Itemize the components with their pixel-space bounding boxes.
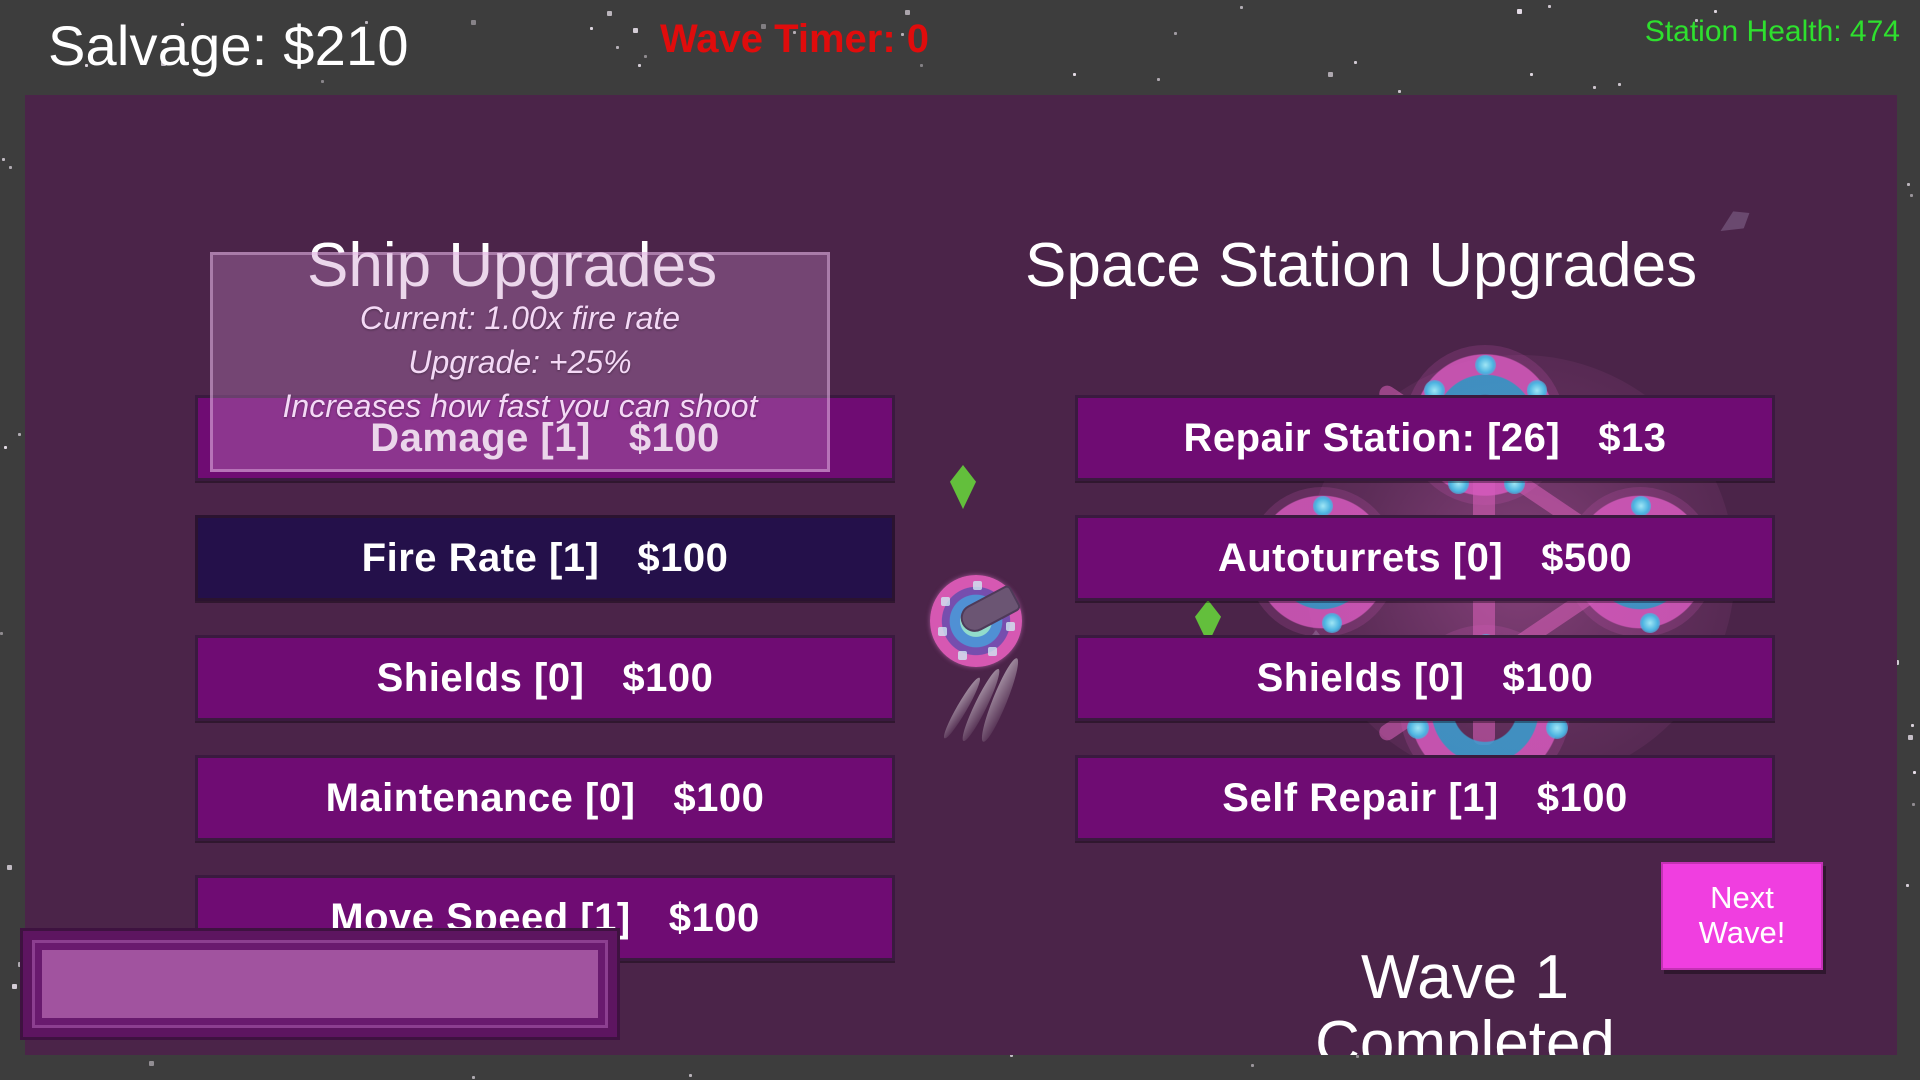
star [1356,1055,1359,1058]
station-health-readout: Station Health: 474 [1645,15,1900,49]
station-upgrade-button-1[interactable]: Autoturrets [0]$500 [1075,515,1775,601]
upgrade-panel: Ship Upgrades Space Station Upgrades Dam… [25,95,1897,1055]
star [149,1061,154,1066]
ship-upgrades-title: Ship Upgrades [307,230,717,301]
ship-upgrade-button-0-price: $100 [629,416,720,461]
ship-upgrade-button-0-label: Damage [1] [370,416,591,461]
next-wave-button[interactable]: Next Wave! [1661,862,1823,970]
station-upgrade-button-2-price: $100 [1502,656,1593,701]
station-upgrade-button-1-label: Autoturrets [0] [1218,536,1503,581]
salvage-readout: Salvage: $210 [48,13,409,78]
status-bar-fill [42,950,598,1018]
game-screen: Ship Upgrades Space Station Upgrades Dam… [0,0,1920,1080]
star [0,632,3,635]
ship-upgrade-button-1-label: Fire Rate [1] [362,536,600,581]
ship-upgrade-button-3-price: $100 [673,776,764,821]
star [1912,803,1915,806]
star [1911,724,1914,727]
star [1906,884,1909,887]
ship-upgrade-button-0[interactable]: Damage [1]$100 [195,395,895,481]
ship-upgrade-list: Damage [1]$100Fire Rate [1]$100Shields [… [195,395,895,995]
ship-upgrade-button-3-label: Maintenance [0] [326,776,636,821]
star [9,166,12,169]
star [2,158,5,161]
wave-status: Wave 1 Completed [1265,945,1665,1055]
status-bar-frame [20,928,620,1040]
station-upgrade-button-0-price: $13 [1598,416,1666,461]
star [1908,735,1913,740]
station-upgrades-title: Space Station Upgrades [1025,230,1697,301]
star [1910,194,1913,197]
star [7,865,12,870]
station-upgrade-button-3-label: Self Repair [1] [1222,776,1498,821]
enemy-sprite [950,465,976,509]
station-upgrade-button-1-price: $500 [1541,536,1632,581]
star [1251,1064,1254,1067]
next-wave-label-line1: Next [1710,881,1774,916]
star [18,433,21,436]
star [12,984,17,989]
station-upgrade-button-0-label: Repair Station: [26] [1184,416,1561,461]
status-bar-inner [32,940,608,1028]
star [4,446,7,449]
station-upgrade-button-2-label: Shields [0] [1257,656,1465,701]
station-upgrade-button-2[interactable]: Shields [0]$100 [1075,635,1775,721]
enemy-sprite [1715,205,1754,240]
wave-status-line1: Wave 1 [1265,945,1665,1011]
player-ship-sprite [930,575,1022,667]
station-upgrade-button-3[interactable]: Self Repair [1]$100 [1075,755,1775,841]
star [1907,183,1910,186]
ship-upgrade-button-1-price: $100 [637,536,728,581]
station-upgrade-button-0[interactable]: Repair Station: [26]$13 [1075,395,1775,481]
ship-upgrade-button-1[interactable]: Fire Rate [1]$100 [195,515,895,601]
ship-upgrade-button-2[interactable]: Shields [0]$100 [195,635,895,721]
star [689,1074,692,1077]
ship-upgrade-button-2-price: $100 [622,656,713,701]
next-wave-label-line2: Wave! [1699,916,1786,951]
ship-upgrade-button-2-label: Shields [0] [377,656,585,701]
top-hud: Salvage: $210 Wave Timer: 0 Station Heal… [0,0,1920,95]
station-upgrade-list: Repair Station: [26]$13Autoturrets [0]$5… [1075,395,1775,875]
wave-status-line2: Completed [1265,1011,1665,1055]
station-upgrade-button-3-price: $100 [1537,776,1628,821]
ship-upgrade-button-3[interactable]: Maintenance [0]$100 [195,755,895,841]
ship-upgrade-button-4-price: $100 [669,896,760,941]
wave-timer-readout: Wave Timer: 0 [660,17,929,62]
star [472,1076,475,1079]
star [1913,771,1916,774]
